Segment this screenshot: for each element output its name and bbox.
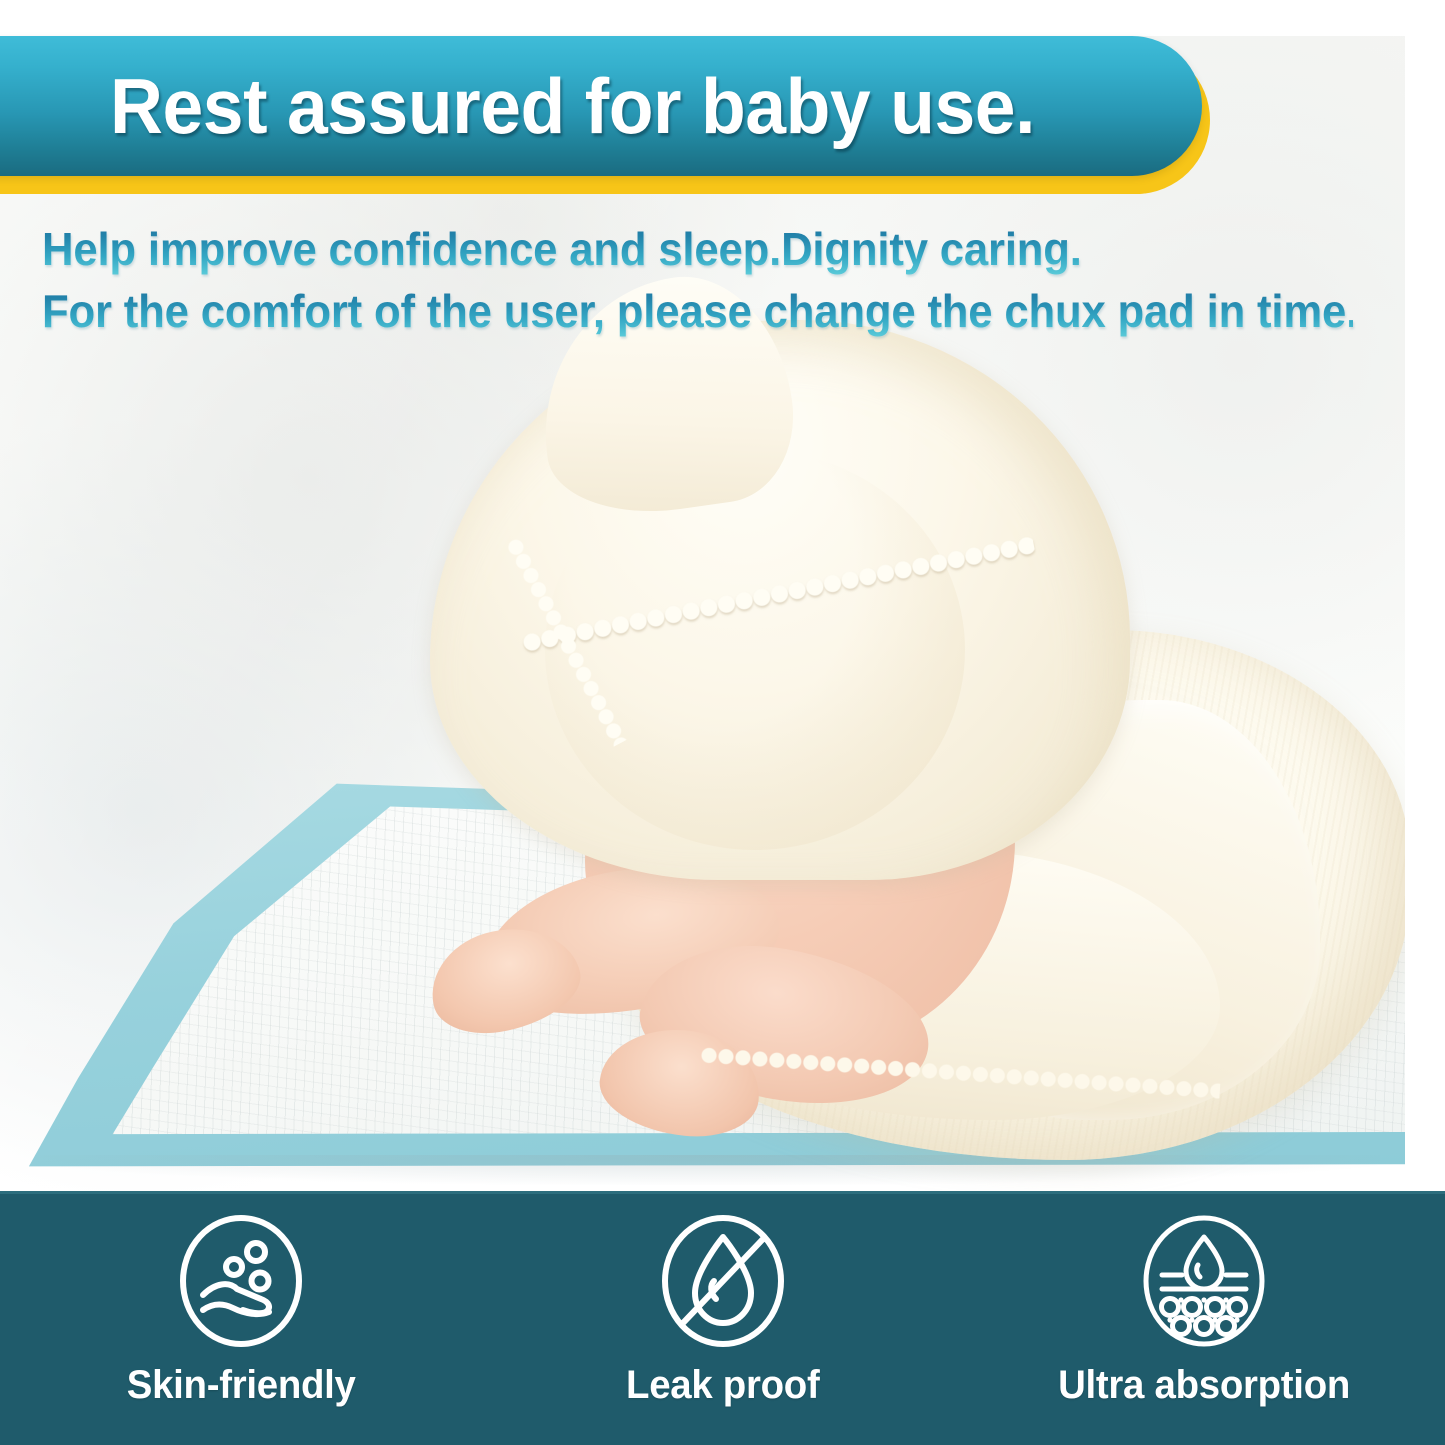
top-white-margin — [0, 0, 1445, 36]
feature-leak-proof: Leak proof — [482, 1191, 964, 1445]
subtitle-line-1: Help improve confidence and sleep.Dignit… — [42, 218, 1353, 280]
feature-skin-friendly: Skin-friendly — [0, 1191, 482, 1445]
feature-ultra-absorption: Ultra absorption — [963, 1191, 1445, 1445]
no-water-droplet-icon — [659, 1213, 787, 1349]
feature-label: Ultra absorption — [1058, 1363, 1350, 1408]
baby-with-hooded-towel — [370, 330, 1410, 1160]
feature-label: Skin-friendly — [126, 1363, 355, 1408]
droplet-absorption-layers-icon — [1140, 1213, 1268, 1349]
subtitle-line-2: For the comfort of the user, please chan… — [42, 280, 1353, 342]
page-title: Rest assured for baby use. — [110, 36, 1144, 176]
hand-with-bubbles-icon — [177, 1213, 305, 1349]
subtitle-block: Help improve confidence and sleep.Dignit… — [42, 218, 1422, 342]
feature-list: Skin-friendly Leak proof — [0, 1191, 1445, 1445]
feature-bar: Skin-friendly Leak proof — [0, 1191, 1445, 1445]
feature-label: Leak proof — [626, 1363, 819, 1408]
product-infographic: Rest assured for baby use. Help improve … — [0, 0, 1445, 1445]
right-white-margin — [1405, 0, 1445, 1191]
